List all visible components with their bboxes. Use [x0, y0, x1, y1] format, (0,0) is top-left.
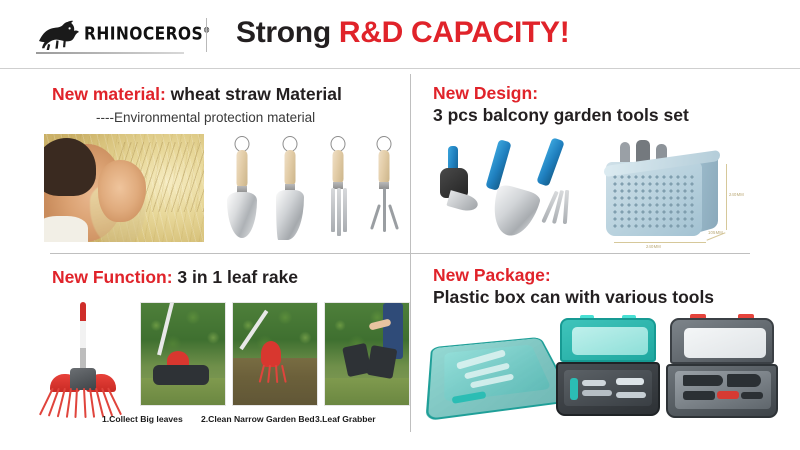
title-red-part: R&D CAPACITY!	[339, 16, 570, 49]
new-function-label: New Function:	[52, 267, 173, 287]
new-design-label: New Design:	[433, 83, 538, 103]
transplanter-blade	[276, 190, 304, 240]
wheat-straw-photo	[44, 134, 204, 242]
page-title: Strong R&D CAPACITY!	[236, 16, 569, 50]
fork-prong	[337, 188, 341, 236]
slide-root: RHINOCEROS® Strong R&D CAPACITY! New mat…	[0, 0, 800, 450]
new-function-heading: New Function: 3 in 1 leaf rake	[52, 267, 298, 288]
rake-tine	[74, 388, 77, 418]
usage-caption-1: 1.Collect Big leaves	[102, 414, 183, 424]
wooden-handle-tools-photo	[212, 134, 402, 244]
new-package-heading: New Package:	[433, 265, 551, 286]
basket-dimension-photo: 240MM 240MM 105MM	[600, 140, 800, 252]
grass	[325, 378, 409, 405]
brand-name: RHINOCEROS®	[84, 24, 210, 44]
dimension-line-width	[614, 242, 706, 243]
new-design-heading: New Design:	[433, 83, 538, 104]
case-lid-inner	[684, 328, 766, 358]
teal-open-case-photo	[556, 318, 660, 420]
rhinoceros-logo-icon	[36, 17, 82, 51]
trowel-handle	[485, 139, 511, 191]
case-tool	[683, 391, 715, 400]
leaf-grabber-right	[367, 345, 398, 379]
basket-perforations	[612, 174, 696, 228]
usage-caption-3: 3.Leaf Grabber	[315, 414, 376, 424]
dimension-width-label: 240MM	[646, 244, 661, 249]
usage-photo-1	[140, 302, 226, 406]
new-package-label: New Package:	[433, 265, 551, 285]
header-bottom-rule	[0, 68, 800, 69]
case-tool	[582, 390, 612, 396]
leaf-rake-product-photo	[34, 298, 134, 418]
case-tool-handle	[570, 378, 578, 400]
case-tool	[582, 380, 606, 386]
case-base	[666, 364, 778, 418]
person-shirt	[44, 216, 88, 242]
rake-hub	[70, 368, 96, 390]
blue-handle-tools-photo	[430, 132, 610, 244]
rake-tine	[39, 388, 54, 416]
case-tool	[616, 392, 646, 398]
case-lid	[560, 318, 656, 362]
trowel-blade	[227, 192, 257, 238]
rake-pole	[80, 302, 86, 376]
dimension-height-label: 240MM	[729, 192, 744, 197]
dimension-line-height	[726, 164, 727, 230]
usage-caption-2: 2.Clean Narrow Garden Bed	[201, 414, 315, 424]
new-material-heading: New material: wheat straw Material	[52, 84, 342, 105]
logo-underline	[36, 52, 184, 54]
case-tool	[616, 378, 644, 385]
wooden-handle	[285, 150, 296, 186]
title-black-part: Strong	[236, 16, 339, 49]
vertical-rule	[410, 74, 411, 432]
new-material-value: wheat straw Material	[166, 84, 342, 104]
wooden-handle	[379, 150, 390, 184]
tool-transplanter	[270, 136, 310, 240]
case-tool	[741, 392, 763, 399]
new-design-subheading: 3 pcs balcony garden tools set	[433, 105, 689, 126]
trowel-blade	[486, 183, 542, 241]
brand-logo: RHINOCEROS®	[36, 17, 196, 51]
rake-tine	[89, 388, 95, 418]
tool-trowel-round	[222, 136, 262, 240]
tool-hand-fork	[318, 136, 358, 240]
new-package-value: Plastic box can with various tools	[433, 287, 714, 307]
cultivator-claw	[383, 204, 386, 232]
case-tool-trowel	[683, 375, 723, 386]
pruning-shear-blade	[446, 190, 479, 214]
rake-tine	[66, 388, 72, 418]
case-tool-red-handle	[717, 391, 739, 399]
cultivator-claw	[388, 204, 399, 230]
fork-prong	[343, 188, 347, 232]
fork-prong	[331, 188, 335, 232]
wooden-handle	[237, 150, 248, 188]
new-function-value: 3 in 1 leaf rake	[173, 267, 299, 287]
usage-photo-2	[232, 302, 318, 406]
new-package-subheading: Plastic box can with various tools	[433, 287, 714, 308]
dimension-depth-label: 105MM	[708, 230, 723, 235]
case-tool-shovel	[727, 374, 761, 387]
case-lid	[670, 318, 774, 364]
collected-leaves	[153, 365, 209, 385]
gray-open-case-photo	[664, 318, 780, 420]
slide-header: RHINOCEROS® Strong R&D CAPACITY!	[0, 0, 800, 68]
new-design-value: 3 pcs balcony garden tools set	[433, 105, 689, 125]
usage-photo-3	[324, 302, 410, 406]
case-tray	[564, 370, 652, 406]
case-base	[556, 362, 660, 416]
new-material-label: New material:	[52, 84, 166, 104]
middle-rule	[50, 253, 750, 254]
new-material-subtitle: ----Environmental protection material	[96, 110, 315, 125]
tool-cultivator	[364, 136, 402, 240]
case-lid-inner	[572, 327, 648, 355]
cultivator-claw	[370, 204, 381, 230]
rake-head	[261, 341, 281, 367]
case-tray	[675, 371, 771, 409]
teal-closed-case-photo	[430, 322, 558, 420]
wooden-handle	[333, 150, 344, 184]
cultivator-tine	[563, 190, 569, 224]
header-divider	[206, 18, 207, 52]
cultivator-handle	[536, 137, 565, 187]
rake-tine	[83, 388, 86, 418]
